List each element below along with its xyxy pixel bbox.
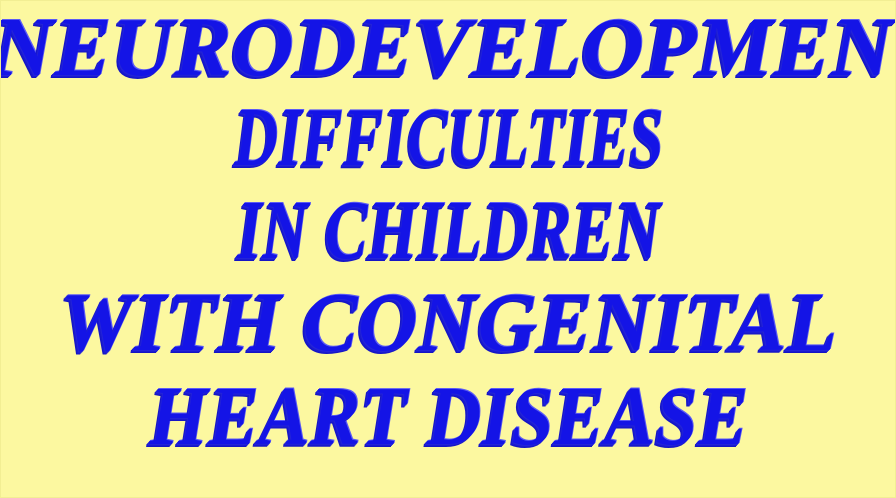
title-line-2: DIFFICULTIES (126, 97, 771, 179)
slide-title: NEURODEVELOPMENTAL DIFFICULTIES IN CHILD… (1, 1, 896, 498)
title-line-1: NEURODEVELOPMENTAL (0, 7, 896, 89)
title-line-3: IN CHILDREN (109, 190, 790, 272)
title-line-4: WITH CONGENITAL (10, 282, 888, 364)
title-slide: NEURODEVELOPMENTAL DIFFICULTIES IN CHILD… (0, 0, 896, 498)
title-line-5: HEART DISEASE (46, 376, 852, 458)
